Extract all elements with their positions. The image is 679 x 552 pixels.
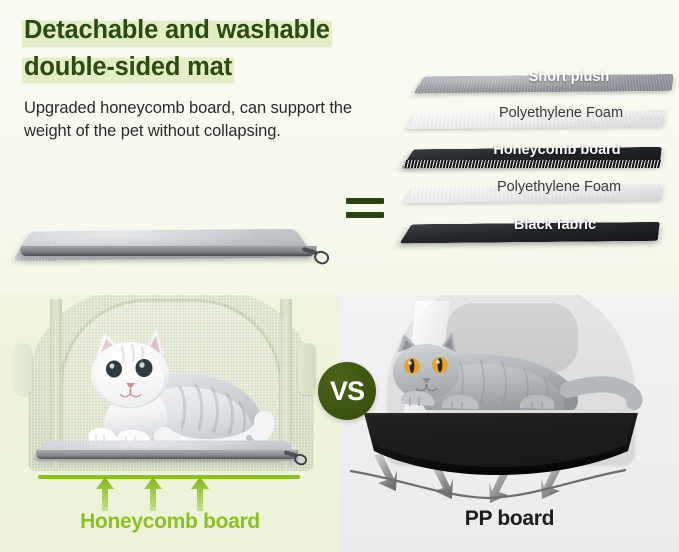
vs-badge: VS bbox=[318, 362, 376, 420]
comparison-panel-honeycomb: Honeycomb board bbox=[0, 295, 340, 552]
zipper-pull-icon bbox=[284, 449, 314, 471]
up-arrow-icon bbox=[143, 477, 163, 511]
layer-black-fabric: Black fabric bbox=[400, 208, 658, 242]
grey-british-shorthair-cat bbox=[356, 313, 646, 433]
label-pp-board: PP board bbox=[340, 507, 679, 531]
comparison-section: Honeycomb board bbox=[0, 295, 679, 552]
grey-mat-photo bbox=[6, 183, 336, 278]
headline-line-2: double-sided mat bbox=[22, 51, 234, 85]
comparison-panel-pp-board: PP board bbox=[340, 295, 679, 552]
equals-sign bbox=[346, 198, 384, 218]
support-line-flat bbox=[38, 475, 300, 479]
up-arrow-icon bbox=[190, 477, 210, 511]
layer-label: Black fabric bbox=[514, 217, 596, 233]
label-honeycomb-board: Honeycomb board bbox=[0, 510, 340, 534]
layer-honeycomb-board: Honeycomb board bbox=[402, 133, 660, 167]
layer-label: Polyethylene Foam bbox=[497, 179, 621, 195]
layer-label: Honeycomb board bbox=[493, 142, 620, 158]
layer-polyethylene-foam-top: Polyethylene Foam bbox=[406, 98, 664, 128]
honeycomb-mat bbox=[22, 413, 314, 483]
subcopy-text: Upgraded honeycomb board, can support th… bbox=[24, 97, 384, 144]
layer-stack-diagram: Short plush Polyethylene Foam Honeycomb … bbox=[398, 62, 674, 274]
headline: Detachable and washable double-sided mat bbox=[22, 14, 402, 84]
mat-edge bbox=[35, 450, 298, 459]
layer-label: Short plush bbox=[529, 69, 610, 85]
layer-polyethylene-foam-bottom: Polyethylene Foam bbox=[404, 172, 662, 202]
honeycomb-flute-edge bbox=[403, 160, 661, 168]
up-arrow-icon bbox=[95, 477, 115, 511]
carrier-handle-left bbox=[14, 343, 32, 395]
layer-short-plush: Short plush bbox=[414, 62, 672, 92]
headline-line-1: Detachable and washable bbox=[22, 14, 332, 48]
mat-edge bbox=[19, 246, 317, 256]
vs-badge-label: VS bbox=[330, 378, 364, 405]
zipper-pull-icon bbox=[302, 245, 336, 269]
top-section: Detachable and washable double-sided mat… bbox=[0, 0, 679, 295]
infographic-page: Detachable and washable double-sided mat… bbox=[0, 0, 679, 552]
layer-label: Polyethylene Foam bbox=[499, 105, 623, 121]
